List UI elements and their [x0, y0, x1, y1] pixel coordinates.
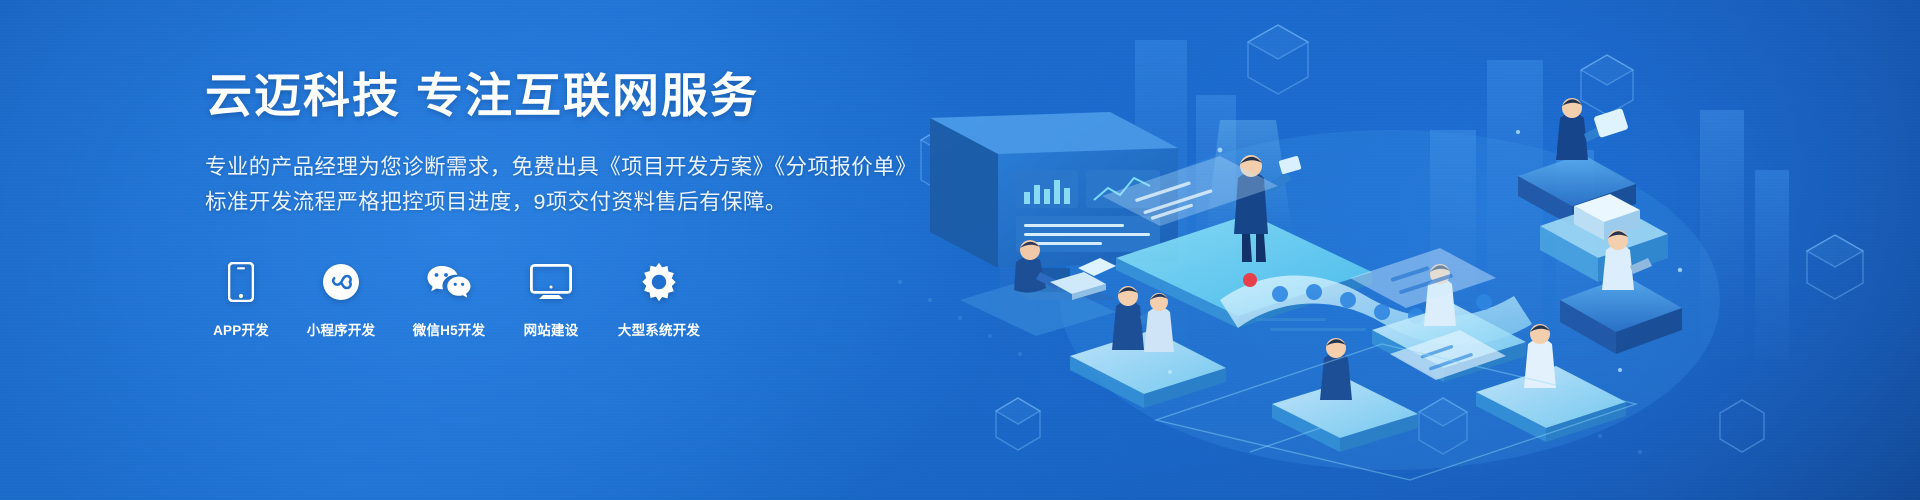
hero-content: 云迈科技 专注互联网服务 专业的产品经理为您诊断需求，免费出具《项目开发方案》《… [205, 68, 965, 339]
service-item-mini-program[interactable]: 小程序开发 [299, 259, 383, 339]
monitor-icon [530, 259, 572, 305]
mobile-phone-icon [228, 259, 254, 305]
service-label-wechat: 微信H5开发 [413, 319, 485, 339]
mini-program-icon [322, 259, 360, 305]
service-item-large-system[interactable]: 大型系统开发 [609, 259, 709, 339]
subtitle-line-1: 专业的产品经理为您诊断需求，免费出具《项目开发方案》《分项报价单》 [205, 150, 965, 185]
subtitle-line-2: 标准开发流程严格把控项目进度，9项交付资料售后有保障。 [205, 185, 965, 220]
hero-subtitle: 专业的产品经理为您诊断需求，免费出具《项目开发方案》《分项报价单》 标准开发流程… [205, 150, 965, 220]
wechat-icon [426, 259, 472, 305]
hero-illustration [920, 0, 1920, 500]
hero-banner: 云迈科技 专注互联网服务 专业的产品经理为您诊断需求，免费出具《项目开发方案》《… [0, 0, 1920, 500]
gear-icon [639, 259, 679, 305]
service-item-app[interactable]: APP开发 [205, 259, 277, 339]
service-item-website[interactable]: 网站建设 [515, 259, 587, 339]
service-list: APP开发 小程序开发 [205, 259, 965, 339]
service-label-large-system: 大型系统开发 [618, 319, 700, 339]
page-title: 云迈科技 专注互联网服务 [205, 68, 965, 123]
service-label-mini-program: 小程序开发 [307, 319, 376, 339]
service-item-wechat[interactable]: 微信H5开发 [405, 259, 493, 339]
service-label-app: APP开发 [213, 319, 269, 339]
service-label-website: 网站建设 [524, 319, 579, 339]
